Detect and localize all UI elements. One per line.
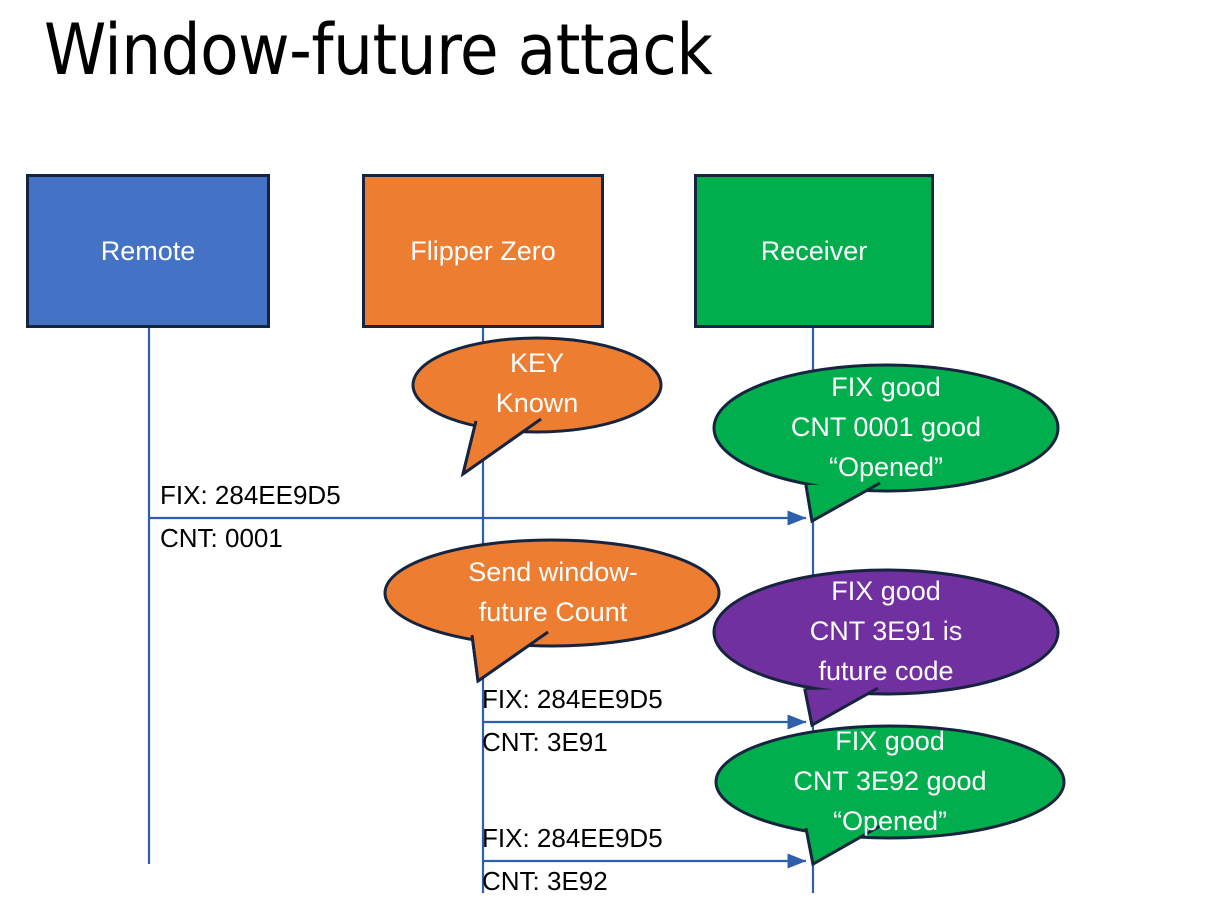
callout-text-key-known: KEY Known bbox=[412, 343, 662, 423]
lane-box-flipper-zero[interactable]: Flipper Zero bbox=[362, 174, 604, 328]
message-3-fix-label: FIX: 284EE9D5 bbox=[482, 822, 663, 854]
callout-text-fix-good-cnt-0001: FIX good CNT 0001 good “Opened” bbox=[712, 367, 1060, 487]
message-3-cnt-label: CNT: 3E92 bbox=[482, 865, 608, 897]
callout-text-send-window-future-count: Send window- future Count bbox=[386, 552, 720, 632]
lane-box-remote[interactable]: Remote bbox=[26, 174, 270, 328]
message-2-fix-label: FIX: 284EE9D5 bbox=[482, 683, 663, 715]
lane-label-remote: Remote bbox=[101, 235, 196, 267]
slide-canvas: Window-future attack Remote Flipper Zero… bbox=[0, 0, 1216, 898]
lane-label-receiver: Receiver bbox=[761, 235, 868, 267]
message-2-cnt-label: CNT: 3E91 bbox=[482, 726, 608, 758]
callout-text-fix-good-cnt-3e91-future: FIX good CNT 3E91 is future code bbox=[714, 571, 1058, 691]
message-1-cnt-label: CNT: 0001 bbox=[160, 522, 283, 554]
page-title: Window-future attack bbox=[44, 6, 1144, 94]
message-1-fix-label: FIX: 284EE9D5 bbox=[160, 479, 341, 511]
lane-label-flipper-zero: Flipper Zero bbox=[410, 235, 556, 267]
lane-box-receiver[interactable]: Receiver bbox=[694, 174, 934, 328]
callout-text-fix-good-cnt-3e92: FIX good CNT 3E92 good “Opened” bbox=[716, 721, 1064, 841]
